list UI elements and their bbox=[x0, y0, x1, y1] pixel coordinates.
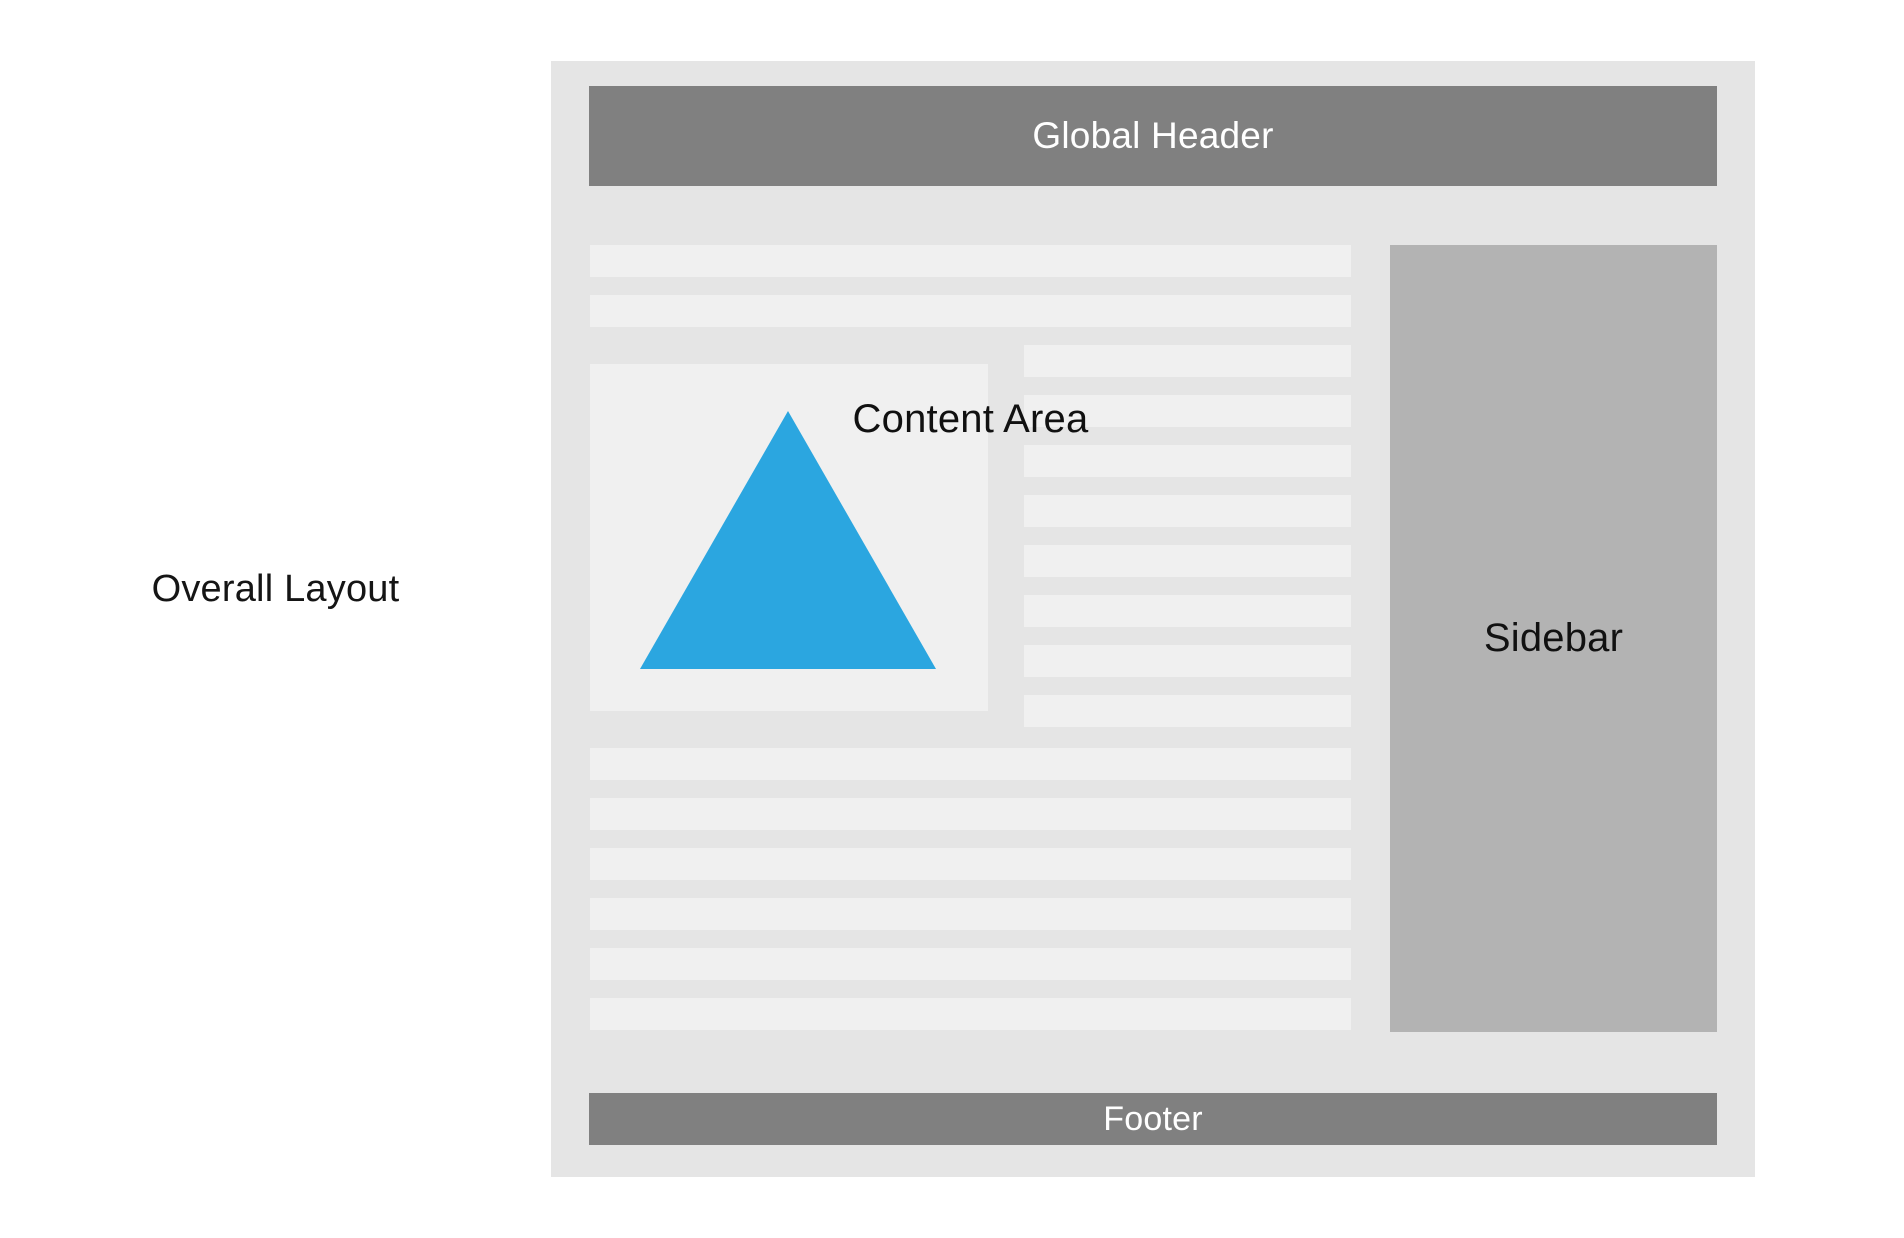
content-skeleton-line bbox=[590, 798, 1351, 830]
content-skeleton-line bbox=[1024, 495, 1351, 527]
content-skeleton-line bbox=[590, 245, 1351, 277]
content-skeleton-line bbox=[1024, 395, 1351, 427]
global-header-label: Global Header bbox=[1032, 115, 1273, 157]
content-skeleton-line bbox=[1024, 595, 1351, 627]
layout-wireframe-container: Global Header Content Area Sidebar bbox=[551, 61, 1755, 1177]
content-skeleton-line bbox=[1024, 645, 1351, 677]
content-skeleton-line bbox=[590, 748, 1351, 780]
media-placeholder bbox=[590, 364, 988, 711]
content-area-block: Content Area bbox=[590, 245, 1351, 1032]
content-skeleton-line bbox=[1024, 545, 1351, 577]
global-header-block: Global Header bbox=[589, 86, 1717, 186]
content-skeleton-line bbox=[590, 295, 1351, 327]
content-skeleton-line bbox=[590, 948, 1351, 980]
content-skeleton-line bbox=[590, 848, 1351, 880]
sidebar-block: Sidebar bbox=[1390, 245, 1717, 1032]
content-skeleton-line bbox=[1024, 345, 1351, 377]
footer-block: Footer bbox=[589, 1093, 1717, 1145]
content-skeleton-line bbox=[1024, 695, 1351, 727]
content-skeleton-line bbox=[590, 998, 1351, 1030]
sidebar-label: Sidebar bbox=[1484, 616, 1623, 661]
content-skeleton-line bbox=[1024, 445, 1351, 477]
triangle-icon bbox=[640, 411, 936, 669]
overall-layout-caption: Overall Layout bbox=[0, 568, 551, 611]
footer-label: Footer bbox=[1103, 1100, 1202, 1139]
content-skeleton-line bbox=[590, 898, 1351, 930]
